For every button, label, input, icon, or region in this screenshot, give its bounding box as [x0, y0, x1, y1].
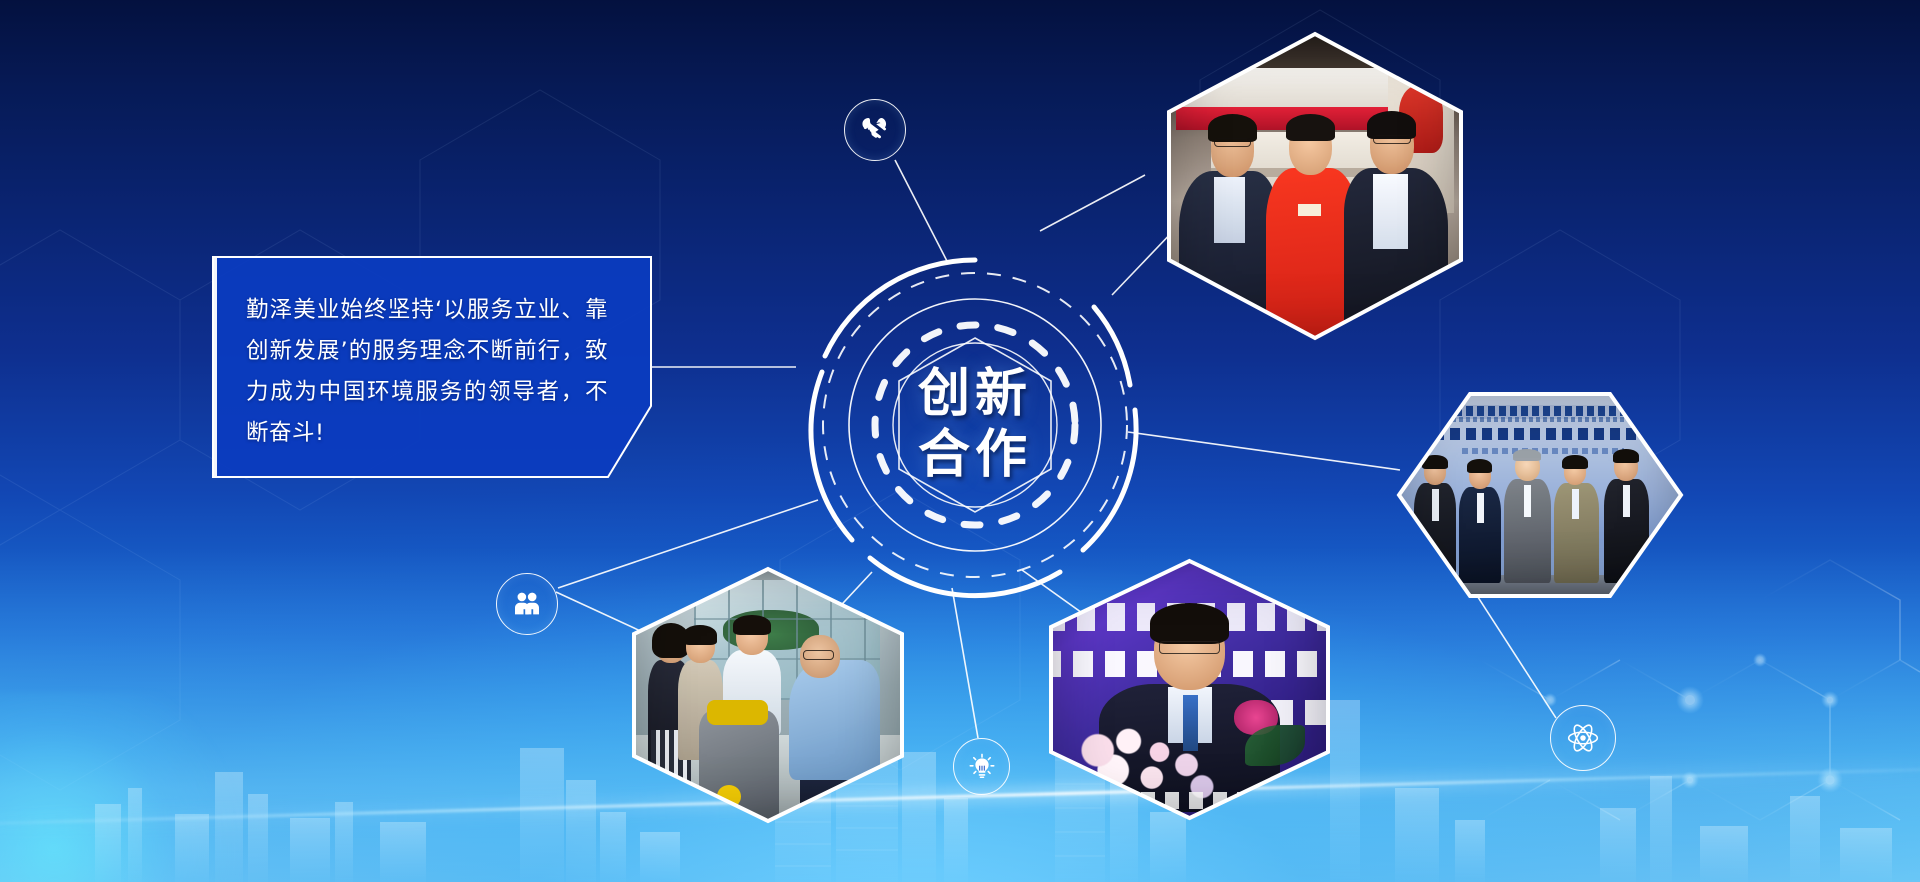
two-people-icon [512, 589, 542, 619]
hub-line-2: 合作 [918, 428, 1032, 483]
left-glow [0, 692, 270, 882]
lightbulb-icon [968, 753, 996, 781]
icon-bubble-team[interactable] [496, 573, 558, 635]
banner-stage: 勤泽美业始终坚持‘以服务立业、靠创新发展’的服务理念不断前行，致力成为中国环境服… [0, 0, 1920, 882]
central-hub: 创新 合作 [800, 250, 1150, 600]
mission-statement-callout: 勤泽美业始终坚持‘以服务立业、靠创新发展’的服务理念不断前行，致力成为中国环境服… [212, 256, 652, 478]
hub-line-1: 创新 [918, 367, 1032, 422]
icon-bubble-atom[interactable] [1550, 705, 1616, 771]
callout-body: 勤泽美业始终坚持‘以服务立业、靠创新发展’的服务理念不断前行，致力成为中国环境服… [246, 290, 608, 454]
icon-bubble-handshake[interactable] [844, 99, 906, 161]
icon-bubble-idea[interactable] [953, 738, 1010, 795]
handshake-heart-icon [860, 115, 890, 145]
mission-statement-text: 勤泽美业始终坚持‘以服务立业、靠创新发展’的服务理念不断前行，致力成为中国环境服… [246, 290, 608, 454]
hub-text: 创新 合作 [800, 250, 1150, 600]
atom-icon [1566, 721, 1600, 755]
